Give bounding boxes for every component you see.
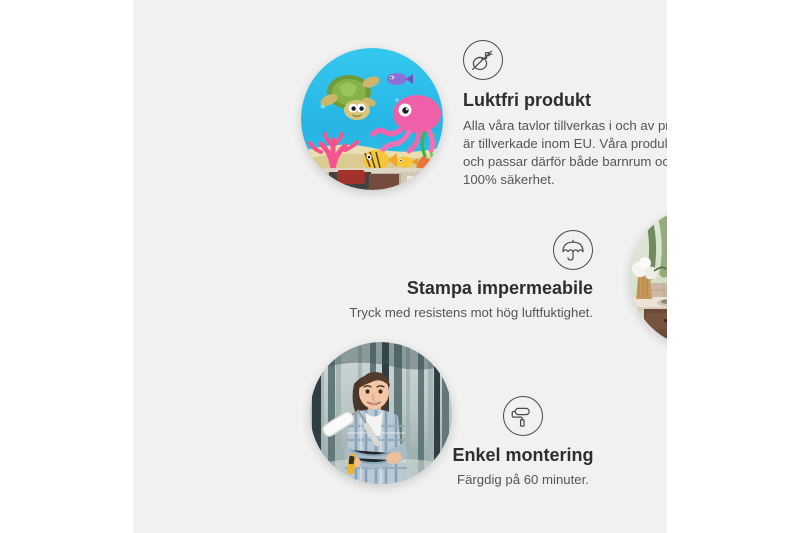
umbrella-icon <box>553 230 593 270</box>
feature-easy-install: Enkel montering Färgdig på 60 minuter. <box>423 396 623 489</box>
content-panel: Luktfri produkt Alla våra tavlor tillver… <box>133 0 667 533</box>
paint-roller-icon <box>503 396 543 436</box>
photo-bathroom <box>630 207 667 347</box>
no-smell-spray-bottle-icon <box>463 40 503 80</box>
feature-title: Luktfri produkt <box>463 89 667 112</box>
feature-description: Tryck med resistens mot hög luftfuktighe… <box>331 304 593 322</box>
feature-odourless: Luktfri produkt Alla våra tavlor tillver… <box>463 40 667 189</box>
feature-waterproof: Stampa impermeabile Tryck med resistens … <box>331 230 593 322</box>
feature-description: Färgdig på 60 minuter. <box>423 471 623 489</box>
feature-description: Alla våra tavlor tillverkas i och av pro… <box>463 117 667 190</box>
feature-title: Enkel montering <box>423 444 623 467</box>
product-feature-banner: Luktfri produkt Alla våra tavlor tillver… <box>0 0 800 533</box>
feature-title: Stampa impermeabile <box>331 277 593 300</box>
photo-underwater <box>301 48 443 190</box>
